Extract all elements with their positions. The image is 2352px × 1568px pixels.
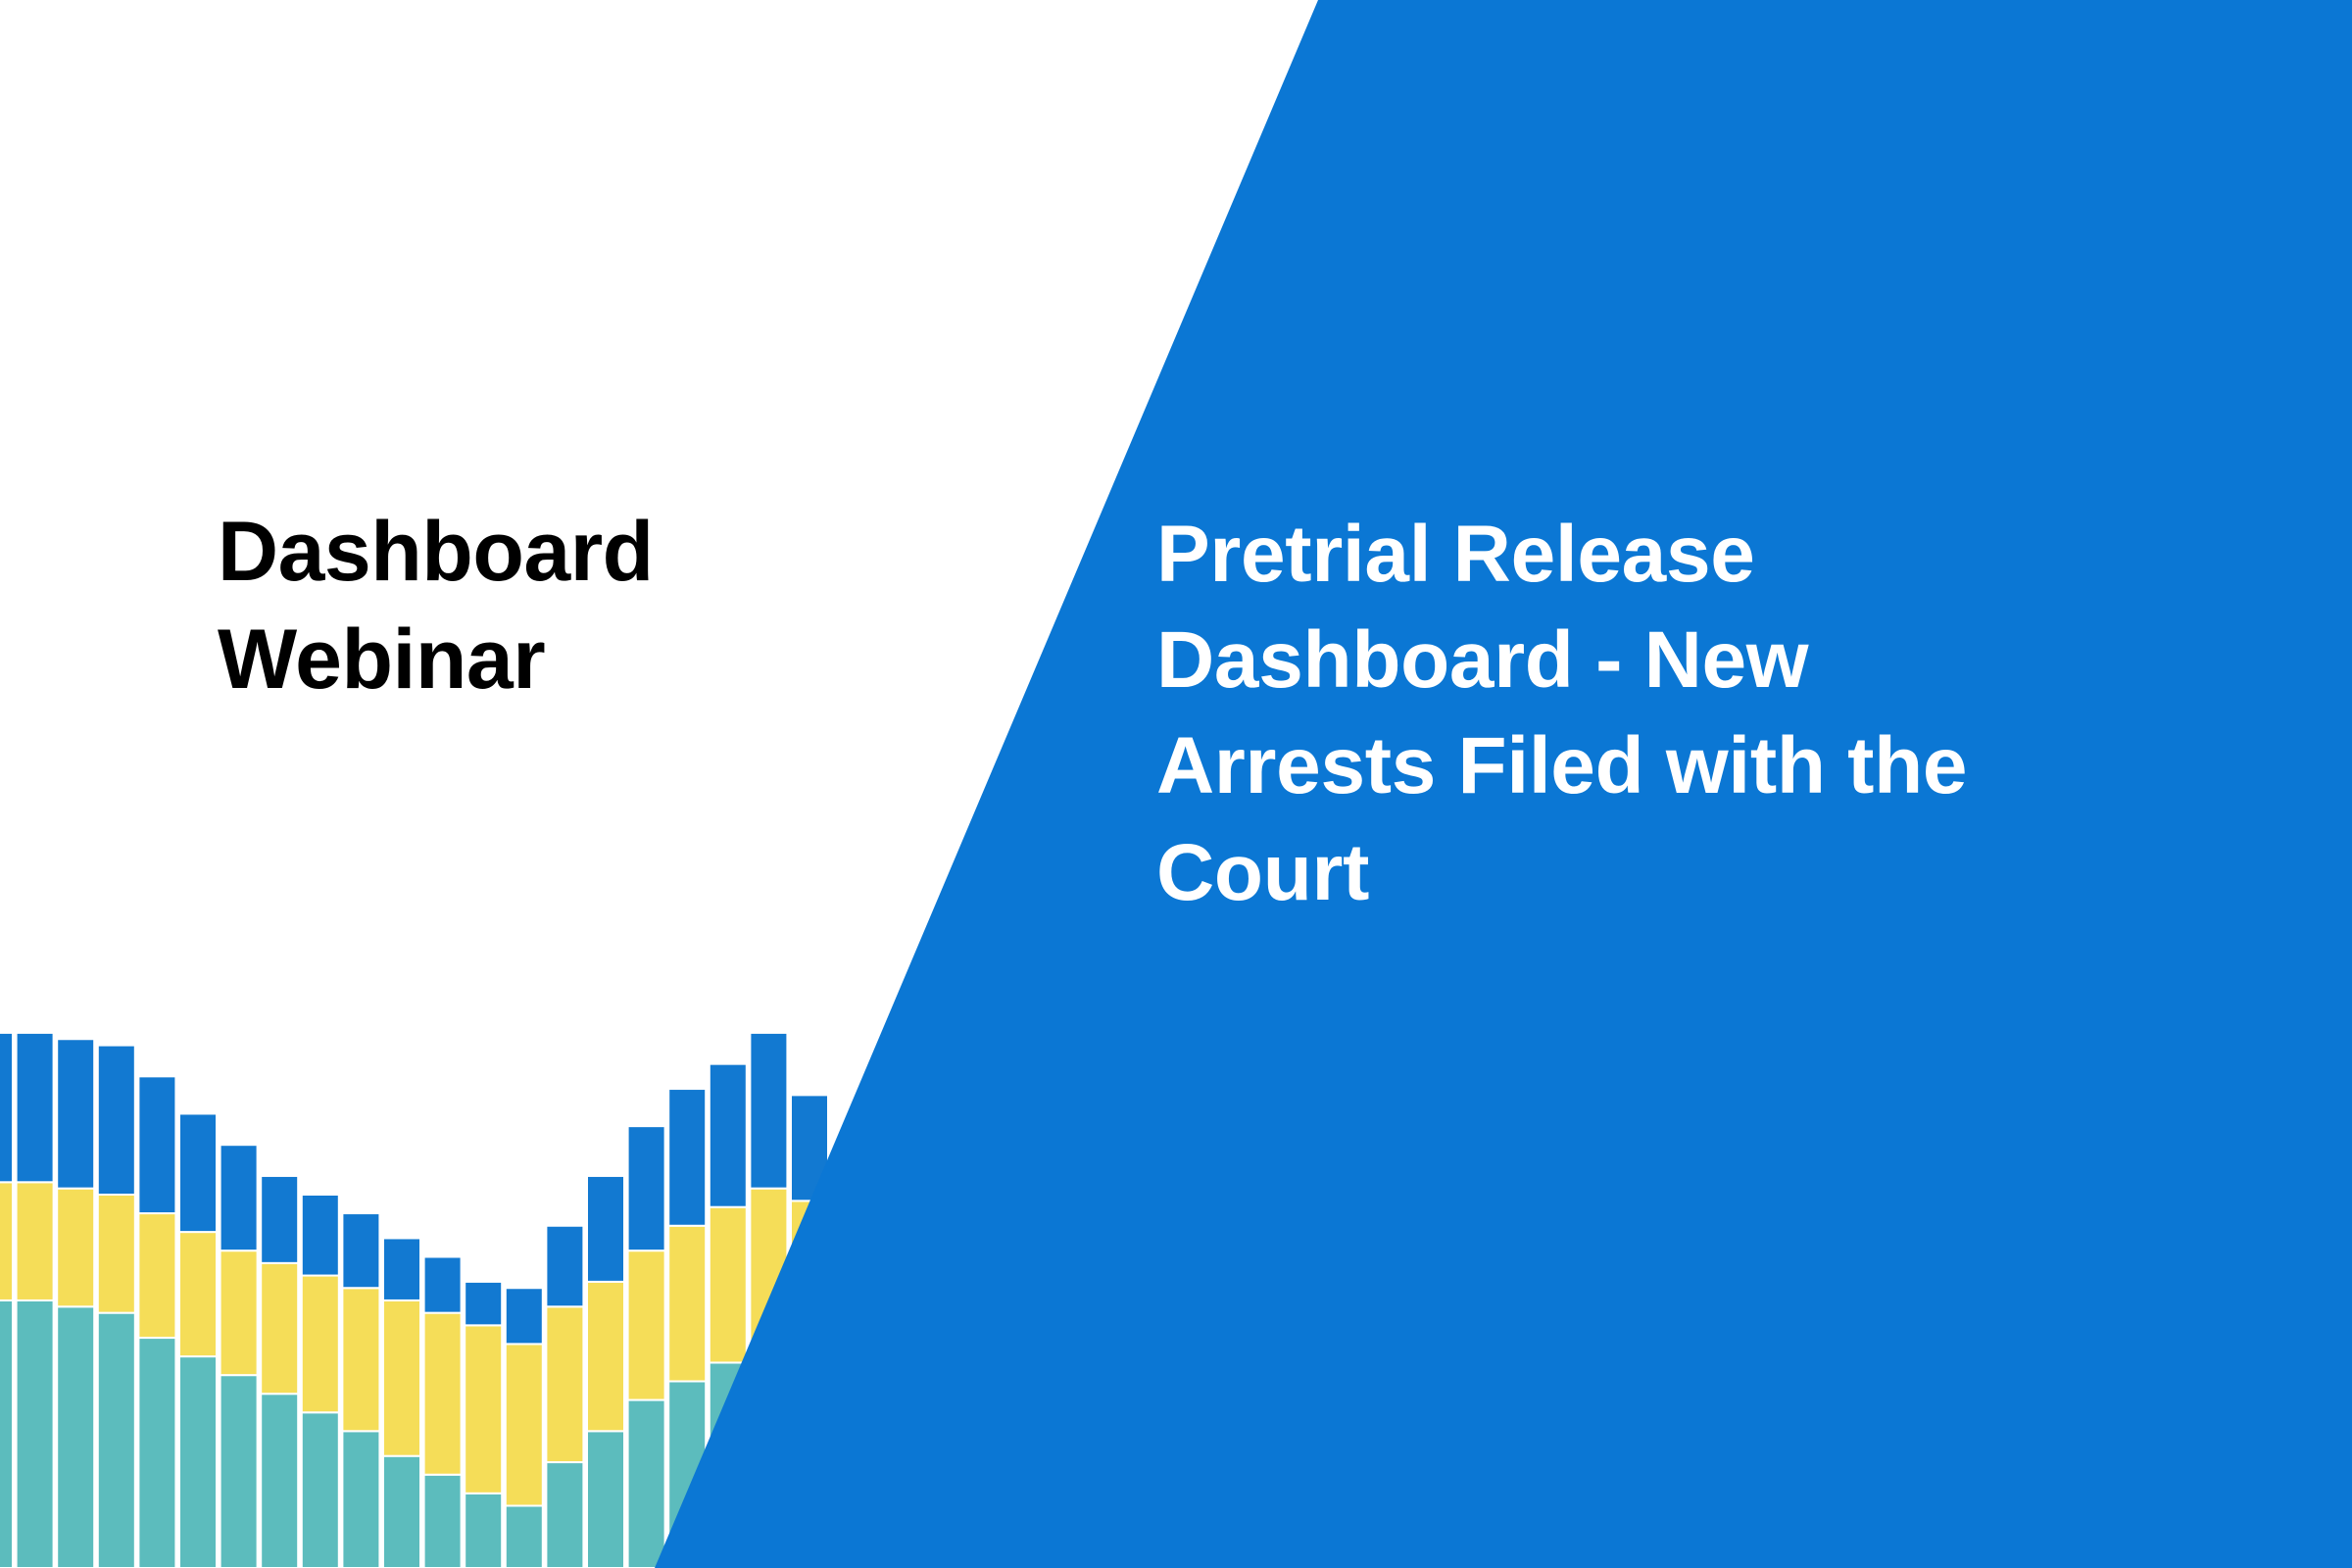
slide-canvas: Dashboard Webinar Pretrial Release Dashb…	[0, 0, 2352, 1568]
chart-bar-segment	[302, 1276, 339, 1413]
chart-bar-segment	[220, 1250, 258, 1375]
chart-bar-segment	[17, 1182, 54, 1300]
chart-bar-segment	[342, 1288, 379, 1431]
chart-bar-segment	[506, 1506, 543, 1568]
chart-bar-segment	[57, 1039, 94, 1188]
chart-bar-segment	[383, 1456, 420, 1568]
chart-bar-segment	[628, 1400, 665, 1568]
chart-bar-segment	[546, 1226, 583, 1307]
chart-bar-segment	[57, 1306, 94, 1568]
chart-bar-segment	[179, 1113, 217, 1232]
chart-bar-segment	[750, 1033, 787, 1189]
chart-bar-segment	[546, 1462, 583, 1568]
chart-bar-segment	[424, 1257, 462, 1313]
chart-bar-segment	[587, 1176, 624, 1282]
right-title: Pretrial Release Dashboard - New Arrests…	[1156, 502, 2097, 926]
chart-bar-segment	[17, 1033, 54, 1182]
chart-bar-segment	[465, 1282, 502, 1325]
chart-bar-segment	[383, 1300, 420, 1456]
chart-bar-segment	[138, 1076, 175, 1213]
chart-bar-segment	[302, 1412, 339, 1568]
chart-bar-segment	[0, 1182, 13, 1300]
chart-bar-segment	[342, 1431, 379, 1568]
chart-bar-segment	[98, 1195, 135, 1313]
chart-bar-segment	[0, 1033, 13, 1182]
chart-bar-segment	[261, 1394, 298, 1568]
chart-bar-segment	[302, 1195, 339, 1276]
chart-bar-segment	[668, 1089, 706, 1226]
chart-bar-segment	[424, 1313, 462, 1475]
chart-bar-segment	[465, 1494, 502, 1568]
chart-bar-segment	[424, 1475, 462, 1568]
chart-bar-segment	[261, 1176, 298, 1263]
chart-bar-segment	[261, 1263, 298, 1394]
chart-bar-segment	[710, 1064, 747, 1207]
chart-bar-segment	[179, 1232, 217, 1356]
chart-bar-segment	[342, 1213, 379, 1288]
chart-bar-segment	[220, 1375, 258, 1568]
chart-bar-segment	[138, 1213, 175, 1338]
chart-bar-segment	[587, 1282, 624, 1431]
chart-bar-segment	[57, 1189, 94, 1307]
chart-bar-segment	[506, 1288, 543, 1344]
chart-bar-segment	[546, 1306, 583, 1462]
chart-bar-segment	[587, 1431, 624, 1568]
left-title: Dashboard Webinar	[218, 498, 825, 713]
chart-bar-segment	[710, 1207, 747, 1363]
chart-bar-segment	[17, 1300, 54, 1568]
chart-bar-segment	[383, 1238, 420, 1300]
chart-bar-segment	[220, 1145, 258, 1250]
chart-bar-segment	[668, 1226, 706, 1382]
chart-bar-segment	[179, 1356, 217, 1568]
chart-bar-segment	[138, 1338, 175, 1568]
chart-bar-segment	[628, 1126, 665, 1250]
chart-bar-segment	[0, 1300, 13, 1568]
chart-bar-segment	[465, 1325, 502, 1493]
chart-bar-segment	[98, 1313, 135, 1568]
chart-bar-segment	[98, 1046, 135, 1195]
chart-bar-segment	[506, 1344, 543, 1505]
chart-bar-segment	[628, 1250, 665, 1399]
